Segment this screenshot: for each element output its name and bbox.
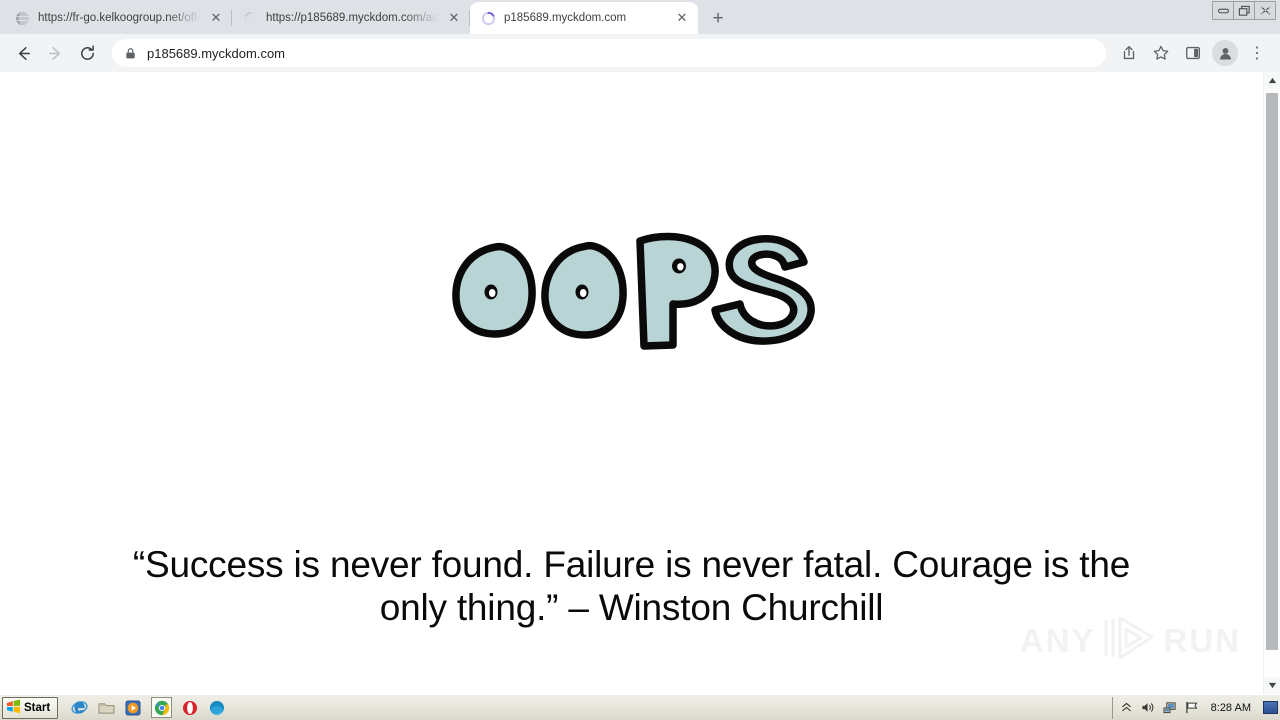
loading-spinner-icon	[242, 10, 258, 26]
page-content: “Success is never found. Failure is neve…	[0, 72, 1263, 694]
browser-tab-1[interactable]: https://fr-go.kelkoogroup.net/offers ✕	[4, 2, 232, 34]
back-button[interactable]	[8, 38, 38, 68]
opera-icon[interactable]	[181, 699, 199, 717]
browser-toolbar: p185689.myckdom.com ⋮	[0, 34, 1280, 72]
quick-launch-bar	[66, 697, 226, 718]
network-icon[interactable]	[1163, 700, 1178, 715]
anyrun-watermark: ANY RUN	[1020, 615, 1241, 666]
side-panel-icon[interactable]	[1178, 38, 1208, 68]
browser-window: https://fr-go.kelkoogroup.net/offers ✕ h…	[0, 0, 1280, 694]
new-tab-button[interactable]: +	[704, 4, 732, 32]
lock-icon[interactable]	[124, 47, 137, 60]
window-restore-button[interactable]	[1233, 1, 1255, 20]
show-desktop-icon[interactable]	[1263, 701, 1278, 714]
scrollbar-up-button[interactable]	[1264, 72, 1280, 89]
scrollbar-thumb[interactable]	[1266, 93, 1278, 650]
oops-headline	[0, 220, 1263, 355]
tab-close-button[interactable]: ✕	[672, 8, 692, 28]
forward-button[interactable]	[40, 38, 70, 68]
file-explorer-icon[interactable]	[97, 699, 115, 717]
clock-label[interactable]: 8:28 AM	[1211, 702, 1251, 714]
tab-title: https://p185689.myckdom.com/adS	[266, 12, 438, 24]
scrollbar-track[interactable]	[1264, 89, 1280, 677]
globe-icon	[14, 10, 30, 26]
start-button-label: Start	[24, 702, 50, 714]
share-icon[interactable]	[1114, 38, 1144, 68]
tab-title: https://fr-go.kelkoogroup.net/offers	[38, 12, 200, 24]
tab-close-button[interactable]: ✕	[206, 8, 226, 28]
watermark-text-run: RUN	[1164, 622, 1242, 660]
address-bar[interactable]: p185689.myckdom.com	[112, 39, 1106, 67]
window-controls	[1213, 1, 1276, 20]
watermark-text-any: ANY	[1020, 622, 1096, 660]
browser-menu-button[interactable]: ⋮	[1242, 38, 1272, 68]
profile-avatar-icon[interactable]	[1212, 40, 1238, 66]
play-triangle-icon	[1100, 615, 1160, 666]
tab-title: p185689.myckdom.com	[504, 12, 666, 24]
page-viewport: “Success is never found. Failure is neve…	[0, 72, 1280, 694]
windows-logo-icon	[6, 699, 21, 717]
google-chrome-icon[interactable]	[151, 697, 172, 718]
window-close-button[interactable]	[1254, 1, 1276, 20]
start-button[interactable]: Start	[2, 697, 58, 719]
browser-tab-3[interactable]: p185689.myckdom.com ✕	[470, 2, 698, 34]
loading-spinner-icon	[480, 10, 496, 26]
microsoft-edge-icon[interactable]	[208, 699, 226, 717]
system-tray: 8:28 AM	[1112, 697, 1261, 719]
taskbar: Start	[0, 694, 1280, 720]
reload-button[interactable]	[72, 38, 102, 68]
address-bar-url: p185689.myckdom.com	[147, 46, 285, 61]
speaker-icon[interactable]	[1141, 700, 1156, 715]
internet-explorer-icon[interactable]	[70, 699, 88, 717]
tray-expand-icon[interactable]	[1119, 700, 1134, 715]
tab-close-button[interactable]: ✕	[444, 8, 464, 28]
star-icon[interactable]	[1146, 38, 1176, 68]
page-scrollbar[interactable]	[1263, 72, 1280, 694]
browser-tab-2[interactable]: https://p185689.myckdom.com/adS ✕	[232, 2, 470, 34]
flag-icon[interactable]	[1185, 700, 1200, 715]
scrollbar-down-button[interactable]	[1264, 677, 1280, 694]
window-minimize-button[interactable]	[1212, 1, 1234, 20]
tab-strip: https://fr-go.kelkoogroup.net/offers ✕ h…	[0, 0, 1280, 34]
media-player-icon[interactable]	[124, 699, 142, 717]
